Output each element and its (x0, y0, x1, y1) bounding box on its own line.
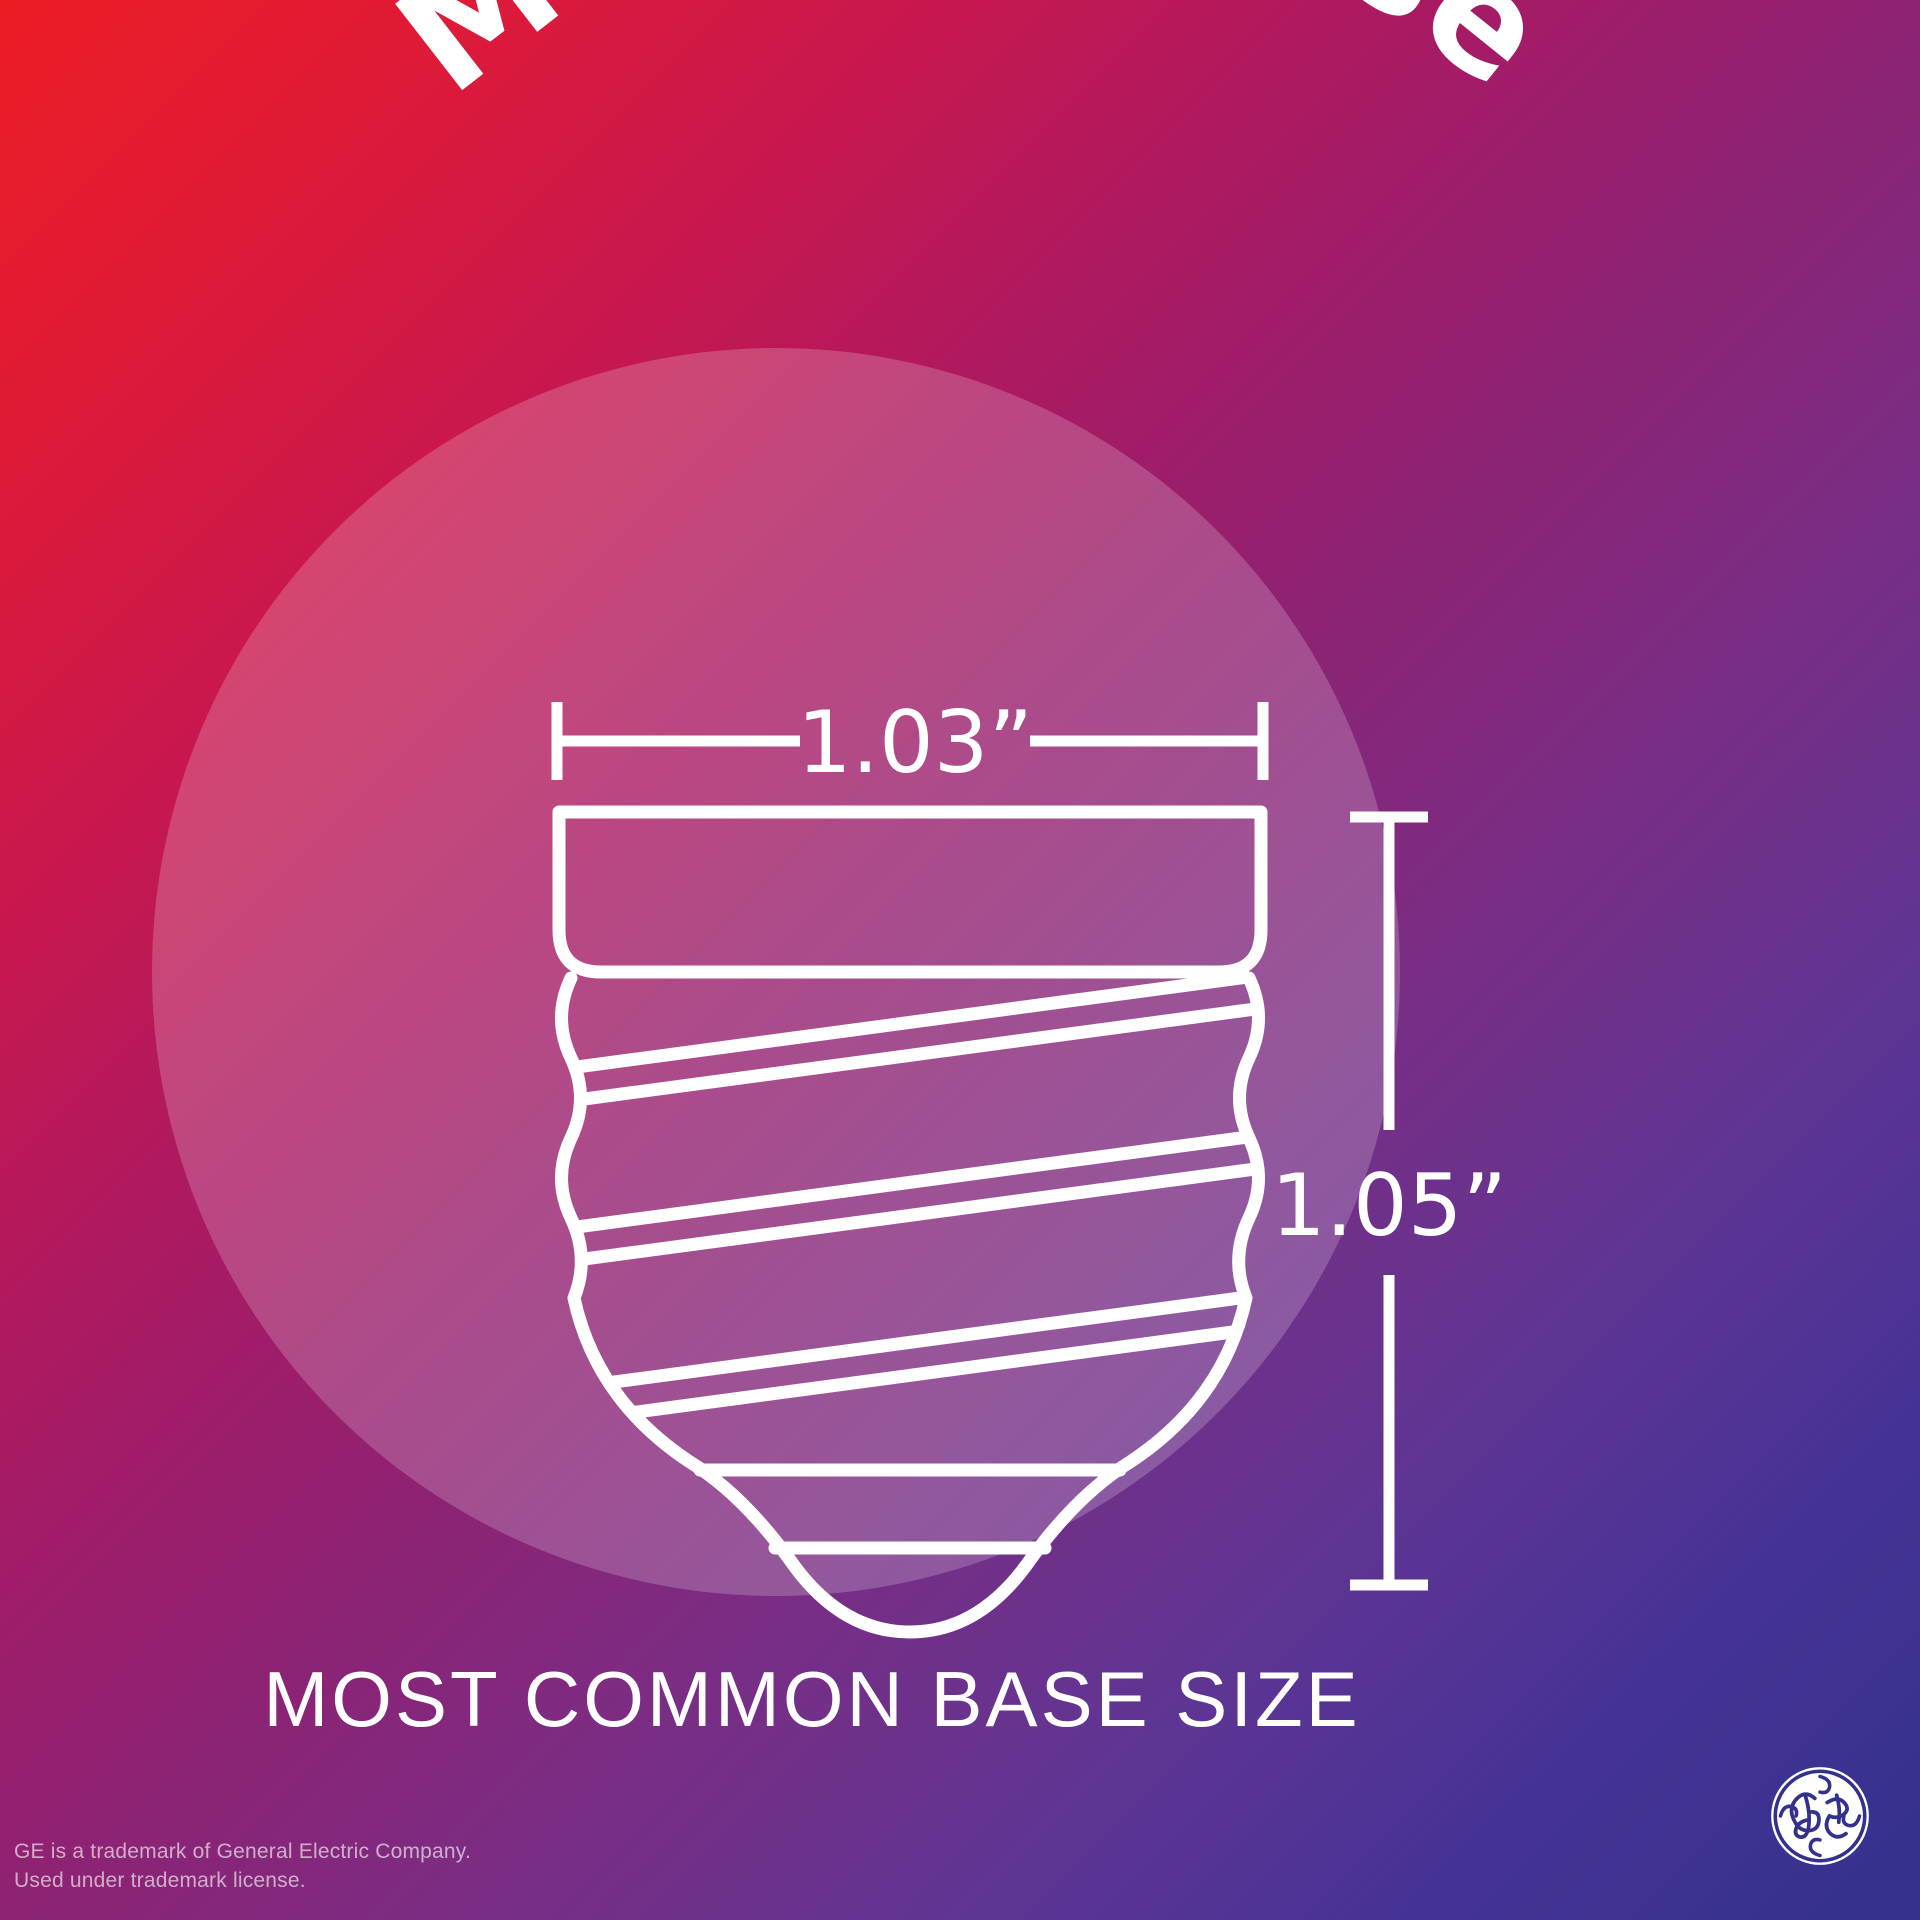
bulb-base-icon (540, 812, 1285, 1632)
page-title-text: Medium Base (367, 0, 1580, 127)
illustration-layer: Medium Base 1.03” 1.05” (0, 0, 1920, 1920)
height-dimension-label: 1.05” (1271, 1156, 1507, 1256)
height-dimension: 1.05” (1271, 817, 1507, 1585)
poster-canvas: Medium Base 1.03” 1.05” (0, 0, 1920, 1920)
caption-label: MOST COMMON BASE SIZE (263, 1655, 1360, 1743)
trademark-notice: GE is a trademark of General Electric Co… (14, 1838, 471, 1896)
page-title: Medium Base (367, 0, 1580, 127)
base-collar (559, 812, 1261, 972)
width-dimension: 1.03” (557, 693, 1263, 793)
ge-logo[interactable] (1768, 1764, 1872, 1868)
width-dimension-label: 1.03” (797, 693, 1033, 793)
thread-ridges (540, 972, 1285, 1425)
